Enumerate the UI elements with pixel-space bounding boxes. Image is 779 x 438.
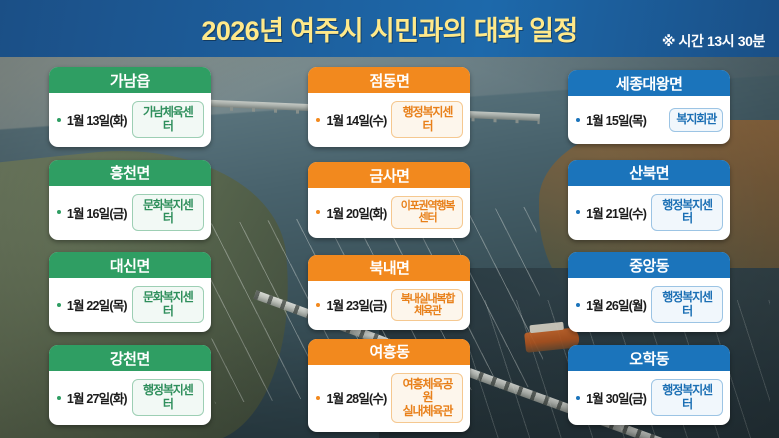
card-region-header: 흥천면 [49,160,211,186]
grid-cell: 금사면 1월 20일(화) 이포권역행복센터 [260,154,520,247]
card-region-header: 오학동 [568,345,730,371]
schedule-card-geumsa-myeon[interactable]: 금사면 1월 20일(화) 이포권역행복센터 [308,162,470,238]
card-body: 1월 14일(수) 행정복지센터 [308,93,470,147]
card-region-header: 강천면 [49,345,211,371]
card-region-header: 점동면 [308,67,470,93]
bullet-icon [57,396,61,400]
card-body: 1월 27일(화) 행정복지센터 [49,371,211,425]
card-body: 1월 28일(수) 여흥체육공원 실내체육관 [308,365,470,432]
schedule-card-gangcheon-myeon[interactable]: 강천면 1월 27일(화) 행정복지센터 [49,345,211,425]
card-region-header: 가남읍 [49,67,211,93]
card-date: 1월 26일(월) [586,295,646,314]
card-venue-badge: 행정복지센터 [132,379,204,416]
schedule-card-ohak-dong[interactable]: 오학동 1월 30일(금) 행정복지센터 [568,345,730,425]
grid-cell: 흥천면 1월 16일(금) 문화복지센터 [0,154,260,247]
card-date: 1월 16일(금) [67,203,127,222]
card-body: 1월 21일(수) 행정복지센터 [568,186,730,240]
time-note: ※ 시간 13시 30분 [662,31,765,51]
grid-cell: 점동면 1월 14일(수) 행정복지센터 [260,61,520,154]
schedule-card-buknae-myeon[interactable]: 북내면 1월 23일(금) 북내실내복합체육관 [308,255,470,331]
bullet-icon [316,118,320,122]
card-date: 1월 20일(화) [326,203,386,222]
grid-cell: 대신면 1월 22일(목) 문화복지센터 [0,246,260,339]
card-date: 1월 14일(수) [326,110,386,129]
bullet-icon [316,303,320,307]
grid-cell: 산북면 1월 21일(수) 행정복지센터 [519,154,779,247]
card-venue-badge: 복지회관 [669,108,723,131]
schedule-card-sejongdaewang-myeon[interactable]: 세종대왕면 1월 15일(목) 복지회관 [568,70,730,144]
card-body: 1월 26일(월) 행정복지센터 [568,278,730,332]
grid-cell: 강천면 1월 27일(화) 행정복지센터 [0,339,260,432]
card-venue-badge: 문화복지센터 [132,194,204,231]
card-date: 1월 22일(목) [67,295,127,314]
card-region-header: 산북면 [568,160,730,186]
bullet-icon [316,396,320,400]
card-date: 1월 15일(목) [586,110,646,129]
card-venue-badge: 행정복지센터 [651,286,723,323]
card-date: 1월 23일(금) [326,295,386,314]
card-venue-badge: 행정복지센터 [651,194,723,231]
card-venue-badge: 가남체육센터 [132,101,204,138]
grid-cell: 북내면 1월 23일(금) 북내실내복합체육관 [260,246,520,339]
card-venue-badge: 행정복지센터 [651,379,723,416]
card-date: 1월 13일(화) [67,110,127,129]
grid-cell: 여흥동 1월 28일(수) 여흥체육공원 실내체육관 [260,339,520,432]
schedule-card-jeomdong-myeon[interactable]: 점동면 1월 14일(수) 행정복지센터 [308,67,470,147]
bullet-icon [57,118,61,122]
card-venue-badge: 문화복지센터 [132,286,204,323]
card-date: 1월 27일(화) [67,388,127,407]
card-date: 1월 30일(금) [586,388,646,407]
card-region-header: 세종대왕면 [568,70,730,96]
card-venue-badge: 행정복지센터 [391,101,463,138]
card-region-header: 북내면 [308,255,470,281]
card-body: 1월 23일(금) 북내실내복합체육관 [308,281,470,331]
card-body: 1월 20일(화) 이포권역행복센터 [308,188,470,238]
card-venue-badge: 여흥체육공원 실내체육관 [391,373,463,423]
card-date: 1월 28일(수) [326,388,386,407]
grid-cell: 오학동 1월 30일(금) 행정복지센터 [519,339,779,432]
schedule-grid: 가남읍 1월 13일(화) 가남체육센터 점동면 1월 14일(수) 행정복지센… [0,57,779,438]
card-region-header: 중앙동 [568,252,730,278]
bullet-icon [576,210,580,214]
card-region-header: 대신면 [49,252,211,278]
bullet-icon [316,210,320,214]
header-band: 2026년 여주시 시민과의 대화 일정 ※ 시간 13시 30분 [0,0,779,57]
card-body: 1월 15일(목) 복지회관 [568,96,730,144]
schedule-card-daesin-myeon[interactable]: 대신면 1월 22일(목) 문화복지센터 [49,252,211,332]
bullet-icon [57,210,61,214]
card-venue-badge: 북내실내복합체육관 [391,289,463,322]
card-body: 1월 16일(금) 문화복지센터 [49,186,211,240]
card-body: 1월 30일(금) 행정복지센터 [568,371,730,425]
grid-cell: 중앙동 1월 26일(월) 행정복지센터 [519,246,779,339]
card-date: 1월 21일(수) [586,203,646,222]
poster-root: 2026년 여주시 시민과의 대화 일정 ※ 시간 13시 30분 가남읍 1월… [0,0,779,438]
bullet-icon [57,303,61,307]
schedule-card-ganam-eup[interactable]: 가남읍 1월 13일(화) 가남체육센터 [49,67,211,147]
bullet-icon [576,396,580,400]
grid-cell: 가남읍 1월 13일(화) 가남체육센터 [0,61,260,154]
schedule-card-jungang-dong[interactable]: 중앙동 1월 26일(월) 행정복지센터 [568,252,730,332]
card-body: 1월 22일(목) 문화복지센터 [49,278,211,332]
card-region-header: 금사면 [308,162,470,188]
card-venue-badge: 이포권역행복센터 [391,196,463,229]
schedule-card-sanbuk-myeon[interactable]: 산북면 1월 21일(수) 행정복지센터 [568,160,730,240]
bullet-icon [576,303,580,307]
bullet-icon [576,118,580,122]
grid-cell: 세종대왕면 1월 15일(목) 복지회관 [519,61,779,154]
schedule-card-yeoheung-dong[interactable]: 여흥동 1월 28일(수) 여흥체육공원 실내체육관 [308,339,470,432]
schedule-card-heungcheon-myeon[interactable]: 흥천면 1월 16일(금) 문화복지센터 [49,160,211,240]
card-body: 1월 13일(화) 가남체육센터 [49,93,211,147]
card-region-header: 여흥동 [308,339,470,365]
